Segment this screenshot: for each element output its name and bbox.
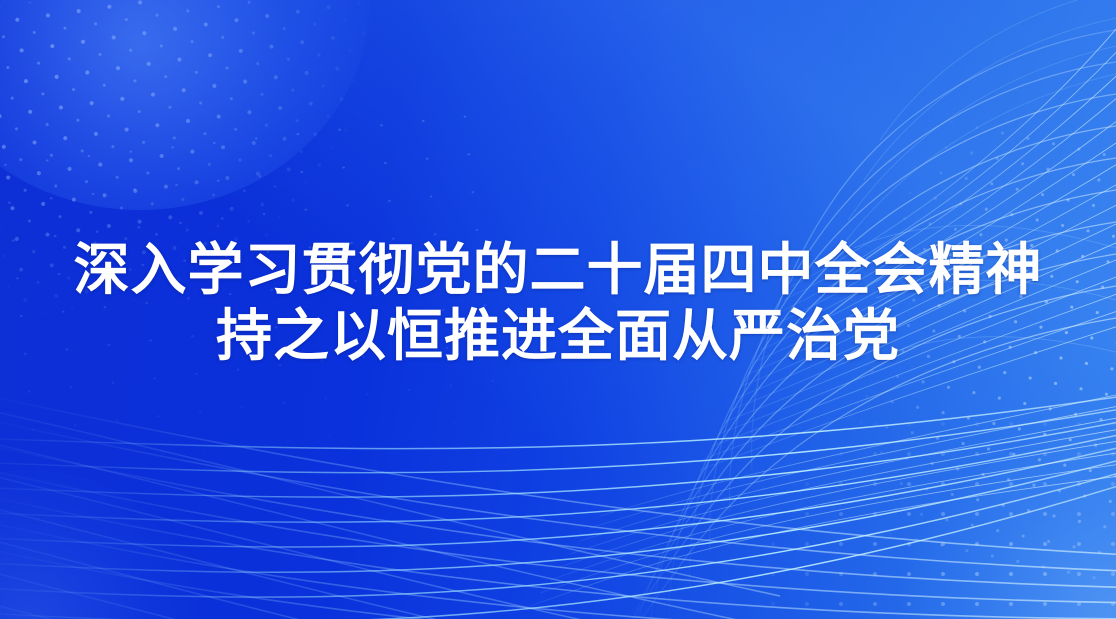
- banner-canvas: 深入学习贯彻党的二十届四中全会精神 持之以恒推进全面从严治党: [0, 0, 1116, 619]
- title-line-1: 深入学习贯彻党的二十届四中全会精神: [0, 238, 1116, 304]
- title-line-2: 持之以恒推进全面从严治党: [0, 304, 1116, 370]
- dot-grid-bottom-right: [756, 409, 1116, 619]
- banner-title: 深入学习贯彻党的二十届四中全会精神 持之以恒推进全面从严治党: [0, 238, 1116, 370]
